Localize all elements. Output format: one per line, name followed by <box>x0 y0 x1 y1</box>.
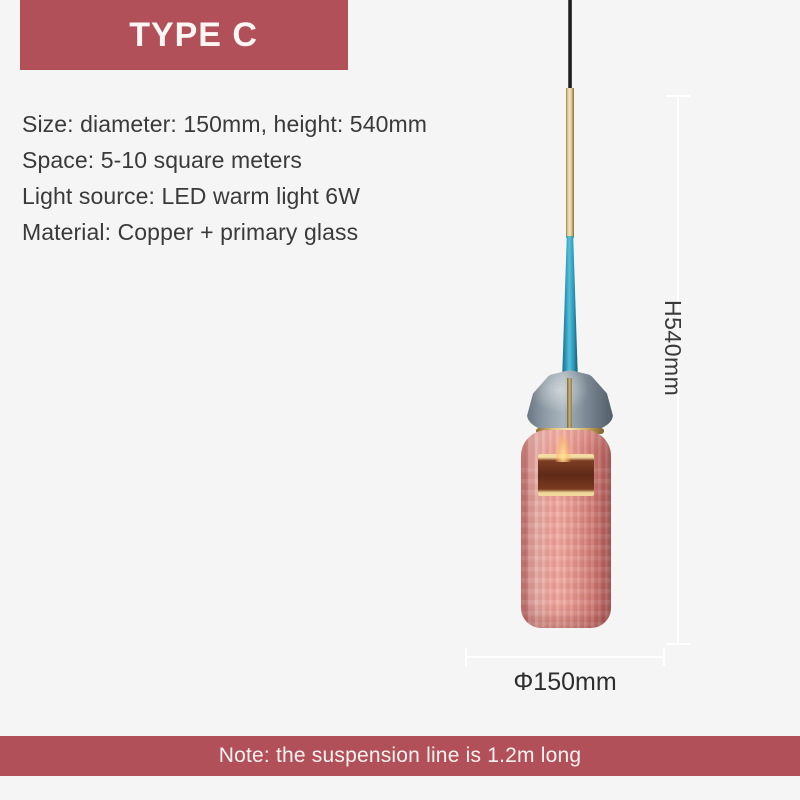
diameter-dimension-line <box>465 656 665 658</box>
diameter-dimension-cap-right <box>663 648 665 666</box>
suspension-cord <box>568 0 572 90</box>
type-badge-label: TYPE C <box>20 18 324 52</box>
inner-rod <box>567 378 572 434</box>
spec-line-size: Size: diameter: 150mm, height: 540mm <box>22 106 562 142</box>
led-module <box>538 454 594 496</box>
spec-line-space: Space: 5-10 square meters <box>22 142 562 178</box>
spec-list: Size: diameter: 150mm, height: 540mm Spa… <box>22 106 562 250</box>
smoky-glass-dome <box>527 370 613 432</box>
glass-dimple-texture <box>521 468 611 628</box>
led-glow <box>555 432 571 462</box>
height-dimension-cap-bottom <box>666 643 690 645</box>
spec-line-material: Material: Copper + primary glass <box>22 214 562 250</box>
product-spec-page: TYPE C Size: diameter: 150mm, height: 54… <box>0 0 800 800</box>
type-badge: TYPE C <box>20 0 348 70</box>
note-banner: Note: the suspension line is 1.2m long <box>0 736 800 776</box>
diameter-dimension-label: Φ150mm <box>465 668 665 697</box>
teal-rod <box>562 236 578 382</box>
pink-glass-shade <box>521 430 611 628</box>
glass-rib-texture <box>521 430 611 628</box>
spec-line-light-source: Light source: LED warm light 6W <box>22 178 562 214</box>
gold-collar <box>536 428 604 434</box>
brass-rod <box>566 88 574 238</box>
note-banner-text: Note: the suspension line is 1.2m long <box>219 744 581 768</box>
height-dimension-label: H540mm <box>659 300 686 396</box>
